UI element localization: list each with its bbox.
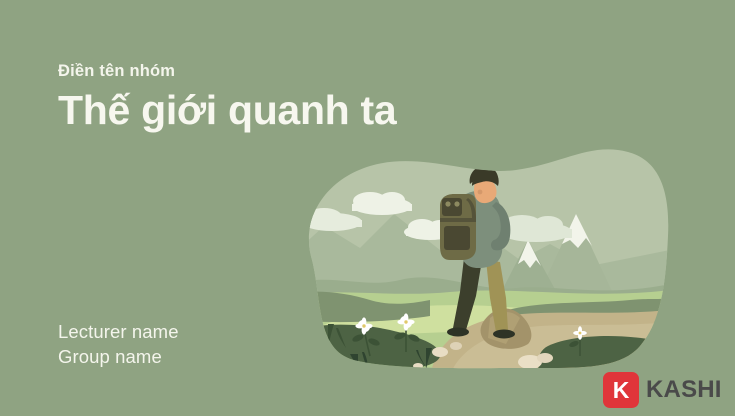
kashi-logo-text: KASHI <box>646 378 722 402</box>
hiker-ear <box>478 190 483 195</box>
kashi-logo-letter: K <box>613 379 630 402</box>
group-name-label: Group name <box>58 345 179 370</box>
kashi-logo-mark: K <box>603 372 639 408</box>
slide-subtitle: Điền tên nhóm <box>58 62 396 82</box>
page-title: Thế giới quanh ta <box>58 88 396 132</box>
rock-3 <box>413 363 423 369</box>
hiker-shoe-front <box>447 328 469 337</box>
backpack-top-pocket <box>442 198 462 216</box>
backpack-bottom-pocket <box>444 226 470 250</box>
hiker-shoe-back <box>493 330 515 339</box>
footer-text-block: Lecturer name Group name <box>58 320 179 369</box>
backpack-strap <box>440 218 476 222</box>
rock-1 <box>432 347 448 357</box>
lecturer-name-label: Lecturer name <box>58 320 179 345</box>
hiker-landscape-illustration <box>290 140 670 375</box>
rock-2 <box>450 342 462 350</box>
title-text-block: Điền tên nhóm Thế giới quanh ta <box>58 62 396 132</box>
backpack-buckle-2 <box>454 201 459 206</box>
rock-5 <box>537 353 553 363</box>
backpack-buckle-1 <box>445 201 450 206</box>
title-slide: Điền tên nhóm Thế giới quanh ta Lecturer… <box>0 0 735 416</box>
illustration-scene <box>290 140 670 375</box>
kashi-logo[interactable]: K KASHI <box>603 372 722 408</box>
